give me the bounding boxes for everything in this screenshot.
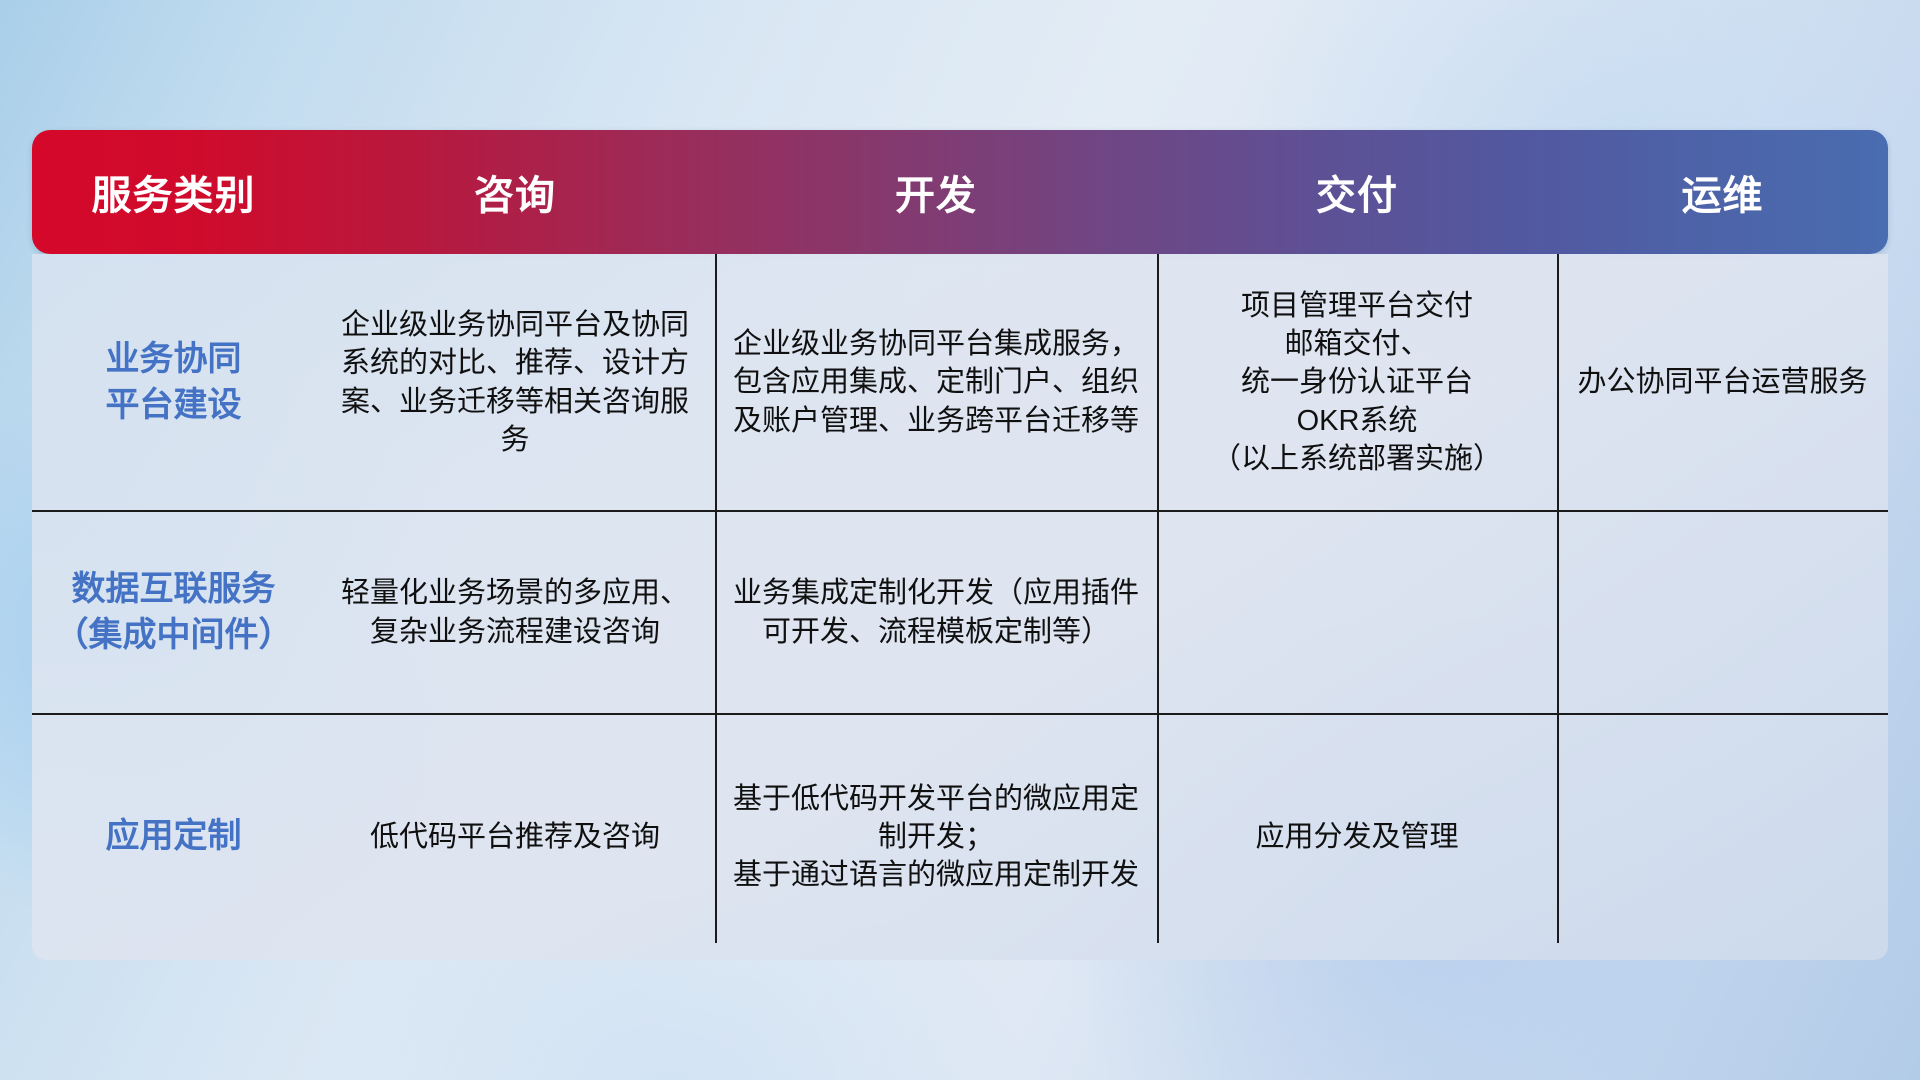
cell-development: 基于低代码开发平台的微应用定制开发； 基于通过语言的微应用定制开发 [715, 714, 1157, 960]
table-header-service-category: 服务类别 [32, 163, 315, 221]
cell-operations [1557, 714, 1888, 960]
table-header-consulting: 咨询 [315, 163, 715, 221]
table-header-row: 服务类别 咨询 开发 交付 运维 [32, 130, 1888, 254]
cell-consulting: 轻量化业务场景的多应用、复杂业务流程建设咨询 [315, 511, 715, 714]
table-header-operations: 运维 [1557, 163, 1888, 221]
table-header-development: 开发 [715, 163, 1157, 221]
cell-operations [1557, 511, 1888, 714]
cell-development: 业务集成定制化开发（应用插件可开发、流程模板定制等） [715, 511, 1157, 714]
table-header-delivery: 交付 [1157, 163, 1557, 221]
cell-operations: 办公协同平台运营服务 [1557, 254, 1888, 511]
row-category-label: 数据互联服务 （集成中间件） [32, 511, 315, 714]
cell-delivery: 项目管理平台交付 邮箱交付、 统一身份认证平台 OKR系统 （以上系统部署实施） [1157, 254, 1557, 511]
table-body: 业务协同 平台建设 企业级业务协同平台及协同系统的对比、推荐、设计方案、业务迁移… [32, 254, 1888, 960]
cell-development: 企业级业务协同平台集成服务，包含应用集成、定制门户、组织及账户管理、业务跨平台迁… [715, 254, 1157, 511]
cell-consulting: 企业级业务协同平台及协同系统的对比、推荐、设计方案、业务迁移等相关咨询服务 [315, 254, 715, 511]
table-row: 业务协同 平台建设 企业级业务协同平台及协同系统的对比、推荐、设计方案、业务迁移… [32, 254, 1888, 511]
table-row: 数据互联服务 （集成中间件） 轻量化业务场景的多应用、复杂业务流程建设咨询 业务… [32, 511, 1888, 714]
cell-consulting: 低代码平台推荐及咨询 [315, 714, 715, 960]
row-category-label: 应用定制 [32, 714, 315, 960]
cell-delivery: 应用分发及管理 [1157, 714, 1557, 960]
service-matrix-table: 服务类别 咨询 开发 交付 运维 业务协同 平台建设 企业级业务协同平台及协同系… [32, 130, 1888, 960]
table-row: 应用定制 低代码平台推荐及咨询 基于低代码开发平台的微应用定制开发； 基于通过语… [32, 714, 1888, 960]
cell-delivery [1157, 511, 1557, 714]
row-category-label: 业务协同 平台建设 [32, 254, 315, 511]
